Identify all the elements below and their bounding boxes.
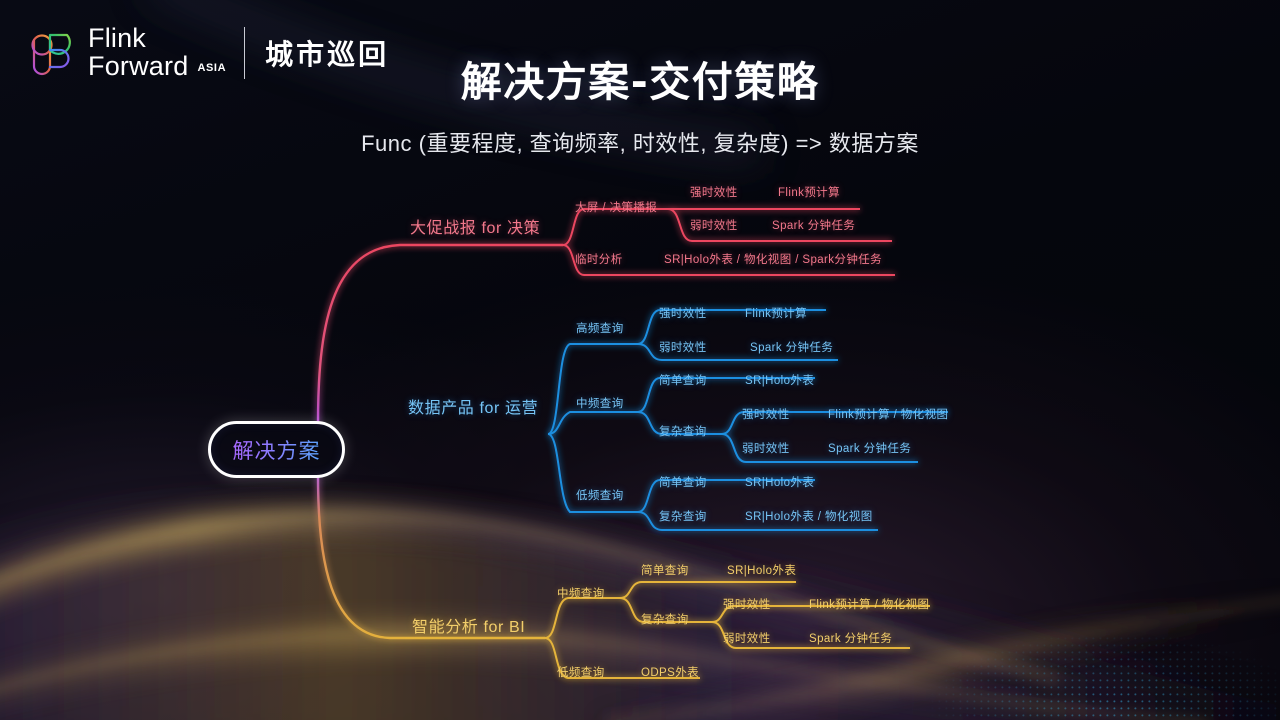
node-blue-mf-a-leaf[interactable]: SR|Holo外表	[745, 376, 814, 388]
connector-group-gold	[318, 476, 930, 678]
node-blue-root-label[interactable]: 数据产品 for 运营	[408, 401, 538, 417]
node-blue-lf-label[interactable]: 低频查询	[576, 491, 624, 503]
node-gold-lf-label[interactable]: 低频查询	[557, 668, 605, 680]
node-red-c1-a-label[interactable]: 强时效性	[690, 188, 738, 200]
mindmap-connectors-svg	[0, 0, 1280, 720]
node-blue-mf-b-b-label[interactable]: 弱时效性	[742, 444, 790, 456]
node-gold-mf-b-label[interactable]: 复杂查询	[641, 615, 689, 627]
node-blue-mf-b-a-label[interactable]: 强时效性	[742, 410, 790, 422]
node-red-c2-label[interactable]: 临时分析	[575, 255, 623, 267]
node-red-c1-label[interactable]: 大屏 / 决策播报	[575, 203, 657, 215]
node-blue-lf-b-leaf[interactable]: SR|Holo外表 / 物化视图	[745, 512, 873, 524]
node-gold-mf-a-label[interactable]: 简单查询	[641, 566, 689, 578]
node-gold-root-label[interactable]: 智能分析 for BI	[412, 620, 525, 636]
mindmap-root-label: 解决方案	[233, 435, 321, 465]
node-blue-hf-b-leaf[interactable]: Spark 分钟任务	[750, 343, 833, 355]
node-blue-mf-label[interactable]: 中频查询	[576, 399, 624, 411]
node-red-c1-b-leaf[interactable]: Spark 分钟任务	[772, 221, 855, 233]
node-gold-mf-b-b-leaf[interactable]: Spark 分钟任务	[809, 634, 892, 646]
node-gold-lf-leaf[interactable]: ODPS外表	[641, 668, 699, 680]
mindmap: 解决方案 大促战报 for 决策 大屏 / 决策播报 强时效性 Flink预计算…	[0, 0, 1280, 720]
node-gold-mf-b-b-label[interactable]: 弱时效性	[723, 634, 771, 646]
node-gold-mf-a-leaf[interactable]: SR|Holo外表	[727, 566, 796, 578]
node-red-c2-leaf[interactable]: SR|Holo外表 / 物化视图 / Spark分钟任务	[664, 255, 882, 267]
slide-canvas: Flink Forward ASIA 城市巡回 解决方案-交付策略 Func (…	[0, 0, 1280, 720]
node-blue-mf-b-a-leaf[interactable]: Flink预计算 / 物化视图	[828, 410, 948, 422]
mindmap-root-node[interactable]: 解决方案	[208, 421, 345, 478]
node-blue-mf-a-label[interactable]: 简单查询	[659, 376, 707, 388]
node-blue-hf-label[interactable]: 高频查询	[576, 324, 624, 336]
node-blue-hf-b-label[interactable]: 弱时效性	[659, 343, 707, 355]
node-red-c1-b-label[interactable]: 弱时效性	[690, 221, 738, 233]
node-gold-mf-b-a-leaf[interactable]: Flink预计算 / 物化视图	[809, 600, 929, 612]
node-red-root-label[interactable]: 大促战报 for 决策	[410, 221, 540, 237]
node-blue-mf-b-label[interactable]: 复杂查询	[659, 427, 707, 439]
node-blue-lf-a-label[interactable]: 简单查询	[659, 478, 707, 490]
node-blue-mf-b-b-leaf[interactable]: Spark 分钟任务	[828, 444, 911, 456]
connector-group-red	[318, 209, 895, 424]
node-blue-hf-a-label[interactable]: 强时效性	[659, 309, 707, 321]
node-gold-mf-label[interactable]: 中频查询	[557, 589, 605, 601]
node-blue-lf-b-label[interactable]: 复杂查询	[659, 512, 707, 524]
node-gold-mf-b-a-label[interactable]: 强时效性	[723, 600, 771, 612]
node-red-c1-a-leaf[interactable]: Flink预计算	[778, 188, 840, 200]
node-blue-lf-a-leaf[interactable]: SR|Holo外表	[745, 478, 814, 490]
node-blue-hf-a-leaf[interactable]: Flink预计算	[745, 309, 807, 321]
